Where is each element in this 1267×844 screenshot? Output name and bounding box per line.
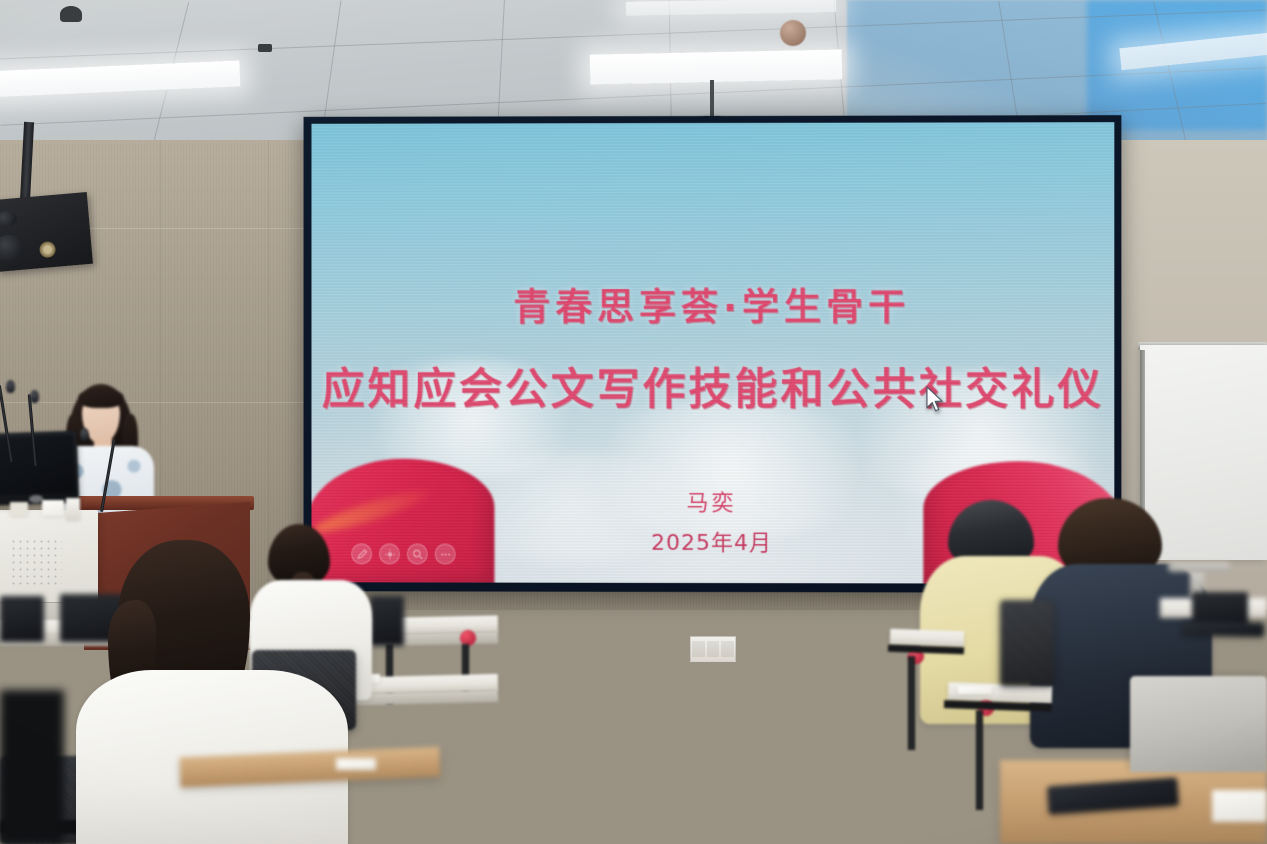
water-glass bbox=[66, 498, 80, 520]
ceiling-speaker-mount bbox=[780, 20, 806, 46]
podium-monitor bbox=[0, 431, 79, 506]
microphone-capsule bbox=[30, 390, 39, 403]
slide-title-line-1: 青春思享荟·学生骨干 bbox=[513, 277, 910, 331]
ceiling-light-panel bbox=[590, 49, 843, 84]
laser-pointer-icon[interactable] bbox=[379, 543, 400, 564]
light-switch[interactable] bbox=[707, 641, 720, 657]
microphone-capsule bbox=[6, 380, 15, 393]
slide-date: 2025年4月 bbox=[651, 525, 772, 557]
ceiling-sensor bbox=[60, 6, 82, 22]
slide-author: 马奕 bbox=[686, 485, 736, 517]
speaker-tweeter bbox=[0, 210, 17, 228]
presenter-bangs bbox=[78, 388, 124, 408]
desk-item bbox=[10, 502, 28, 516]
wall-speaker bbox=[0, 192, 93, 272]
student-front-left bbox=[56, 540, 356, 844]
light-switch[interactable] bbox=[721, 641, 734, 657]
paper-sheet bbox=[1212, 790, 1267, 822]
light-switch[interactable] bbox=[692, 641, 705, 657]
desk-rail bbox=[888, 645, 964, 655]
lecture-hall-screenshot: 青春思享荟·学生骨干 应知应会公文写作技能和公共社交礼仪 马奕 2025年4月 bbox=[0, 0, 1267, 844]
mouse-cursor bbox=[925, 386, 945, 414]
ceiling-vent bbox=[258, 44, 272, 52]
light-switch-plate[interactable] bbox=[690, 636, 736, 662]
monitor-base bbox=[1168, 562, 1230, 572]
magnifier-icon[interactable] bbox=[407, 543, 428, 564]
name-card bbox=[42, 500, 64, 516]
podium-monitor-screen bbox=[0, 435, 75, 496]
slide-title-line-2: 应知应会公文写作技能和公共社交礼仪 bbox=[322, 355, 1104, 417]
ceiling-light-panel bbox=[626, 0, 836, 16]
foreground-chair-edge bbox=[0, 690, 64, 844]
speaker-woofer bbox=[0, 234, 24, 263]
microphone-capsule bbox=[80, 428, 89, 441]
desktop-monitor bbox=[0, 596, 44, 642]
laptop[interactable] bbox=[1130, 676, 1267, 772]
handout-paper bbox=[336, 758, 376, 770]
mesh-chair-back[interactable] bbox=[1000, 600, 1054, 686]
desk-leg bbox=[908, 656, 915, 750]
more-options-icon[interactable] bbox=[435, 544, 456, 565]
ceiling-light-panel bbox=[0, 60, 240, 97]
keyboard[interactable] bbox=[1182, 621, 1264, 636]
desk-leg bbox=[976, 710, 983, 810]
handout-paper bbox=[958, 686, 992, 694]
console-speaker-grill bbox=[10, 538, 62, 586]
projector-stem bbox=[710, 80, 714, 120]
speaker-brand-logo bbox=[39, 241, 56, 258]
